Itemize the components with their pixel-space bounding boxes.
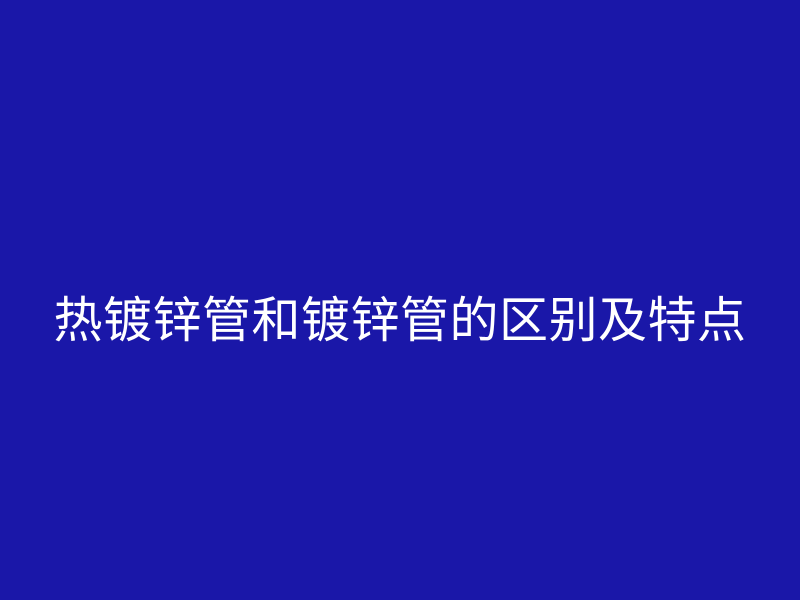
page-title: 热镀锌管和镀锌管的区别及特点 xyxy=(0,296,800,345)
headline-container: 热镀锌管和镀锌管的区别及特点 xyxy=(0,0,800,600)
title-card: 热镀锌管和镀锌管的区别及特点 xyxy=(0,0,800,600)
